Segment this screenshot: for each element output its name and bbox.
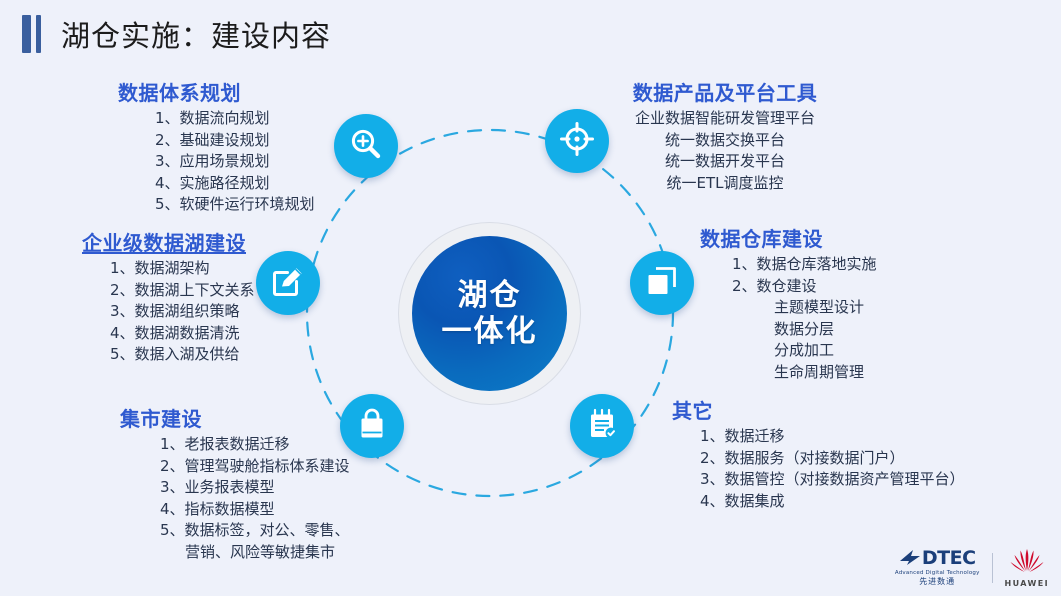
block-enterprise-data-lake: 企业级数据湖建设 1、数据湖架构 2、数据湖上下文关系 3、数据湖组织策略 4、… (82, 232, 255, 366)
checklist-notepad-icon (585, 407, 619, 445)
hub-and-spoke-diagram: 湖仓 一体化 (262, 98, 762, 528)
edit-pencil-square-icon (271, 264, 305, 302)
block-list: 1、数据湖架构 2、数据湖上下文关系 3、数据湖组织策略 4、数据湖数据清洗 5… (82, 258, 255, 366)
dtec-tagline: Advanced Digital Technology (895, 571, 980, 577)
title-accent-bar (22, 15, 41, 53)
node-crosshair-target[interactable] (545, 109, 609, 173)
huawei-logo: HUAWEI (1005, 547, 1049, 588)
node-edit-pencil[interactable] (256, 251, 320, 315)
page-title-text: 湖仓实施：建设内容 (61, 13, 331, 55)
node-shopping-bag[interactable] (340, 394, 404, 458)
dtec-arrow-icon (899, 549, 921, 569)
footer-logos: DTEC Advanced Digital Technology 先进数通 (895, 547, 1049, 588)
page-title: 湖仓实施：建设内容 (22, 13, 331, 55)
dtec-chinese-name: 先进数通 (919, 578, 955, 586)
magnifier-plus-icon (348, 126, 384, 166)
huawei-wordmark: HUAWEI (1005, 579, 1049, 588)
list-item: 5、数据入湖及供给 (110, 344, 255, 366)
dtec-logo: DTEC Advanced Digital Technology 先进数通 (895, 549, 980, 587)
node-checklist-notepad[interactable] (570, 394, 634, 458)
list-item: 1、数据湖架构 (110, 258, 255, 280)
huawei-flower-icon (1009, 547, 1045, 577)
list-item: 3、数据湖组织策略 (110, 301, 255, 323)
slide-canvas: 湖仓实施：建设内容 数据体系规划 1、数据流向规划 2、基础建设规划 3、应用场… (0, 0, 1061, 596)
block-heading: 企业级数据湖建设 (82, 232, 255, 255)
crosshair-target-icon (559, 121, 595, 161)
node-copy-layers[interactable] (630, 251, 694, 315)
list-item: 营销、风险等敏捷集市 (160, 542, 350, 564)
shopping-bag-icon (355, 407, 389, 445)
node-magnifier-plus[interactable] (334, 114, 398, 178)
hub-center-circle: 湖仓 一体化 (412, 236, 567, 391)
copy-layers-icon (645, 264, 679, 302)
dtec-wordmark: DTEC (922, 549, 976, 568)
list-item: 4、数据湖数据清洗 (110, 323, 255, 345)
logo-divider (992, 553, 993, 583)
list-item: 2、数据湖上下文关系 (110, 280, 255, 302)
hub-line-1: 湖仓 (458, 278, 522, 313)
hub-line-2: 一体化 (442, 314, 538, 349)
